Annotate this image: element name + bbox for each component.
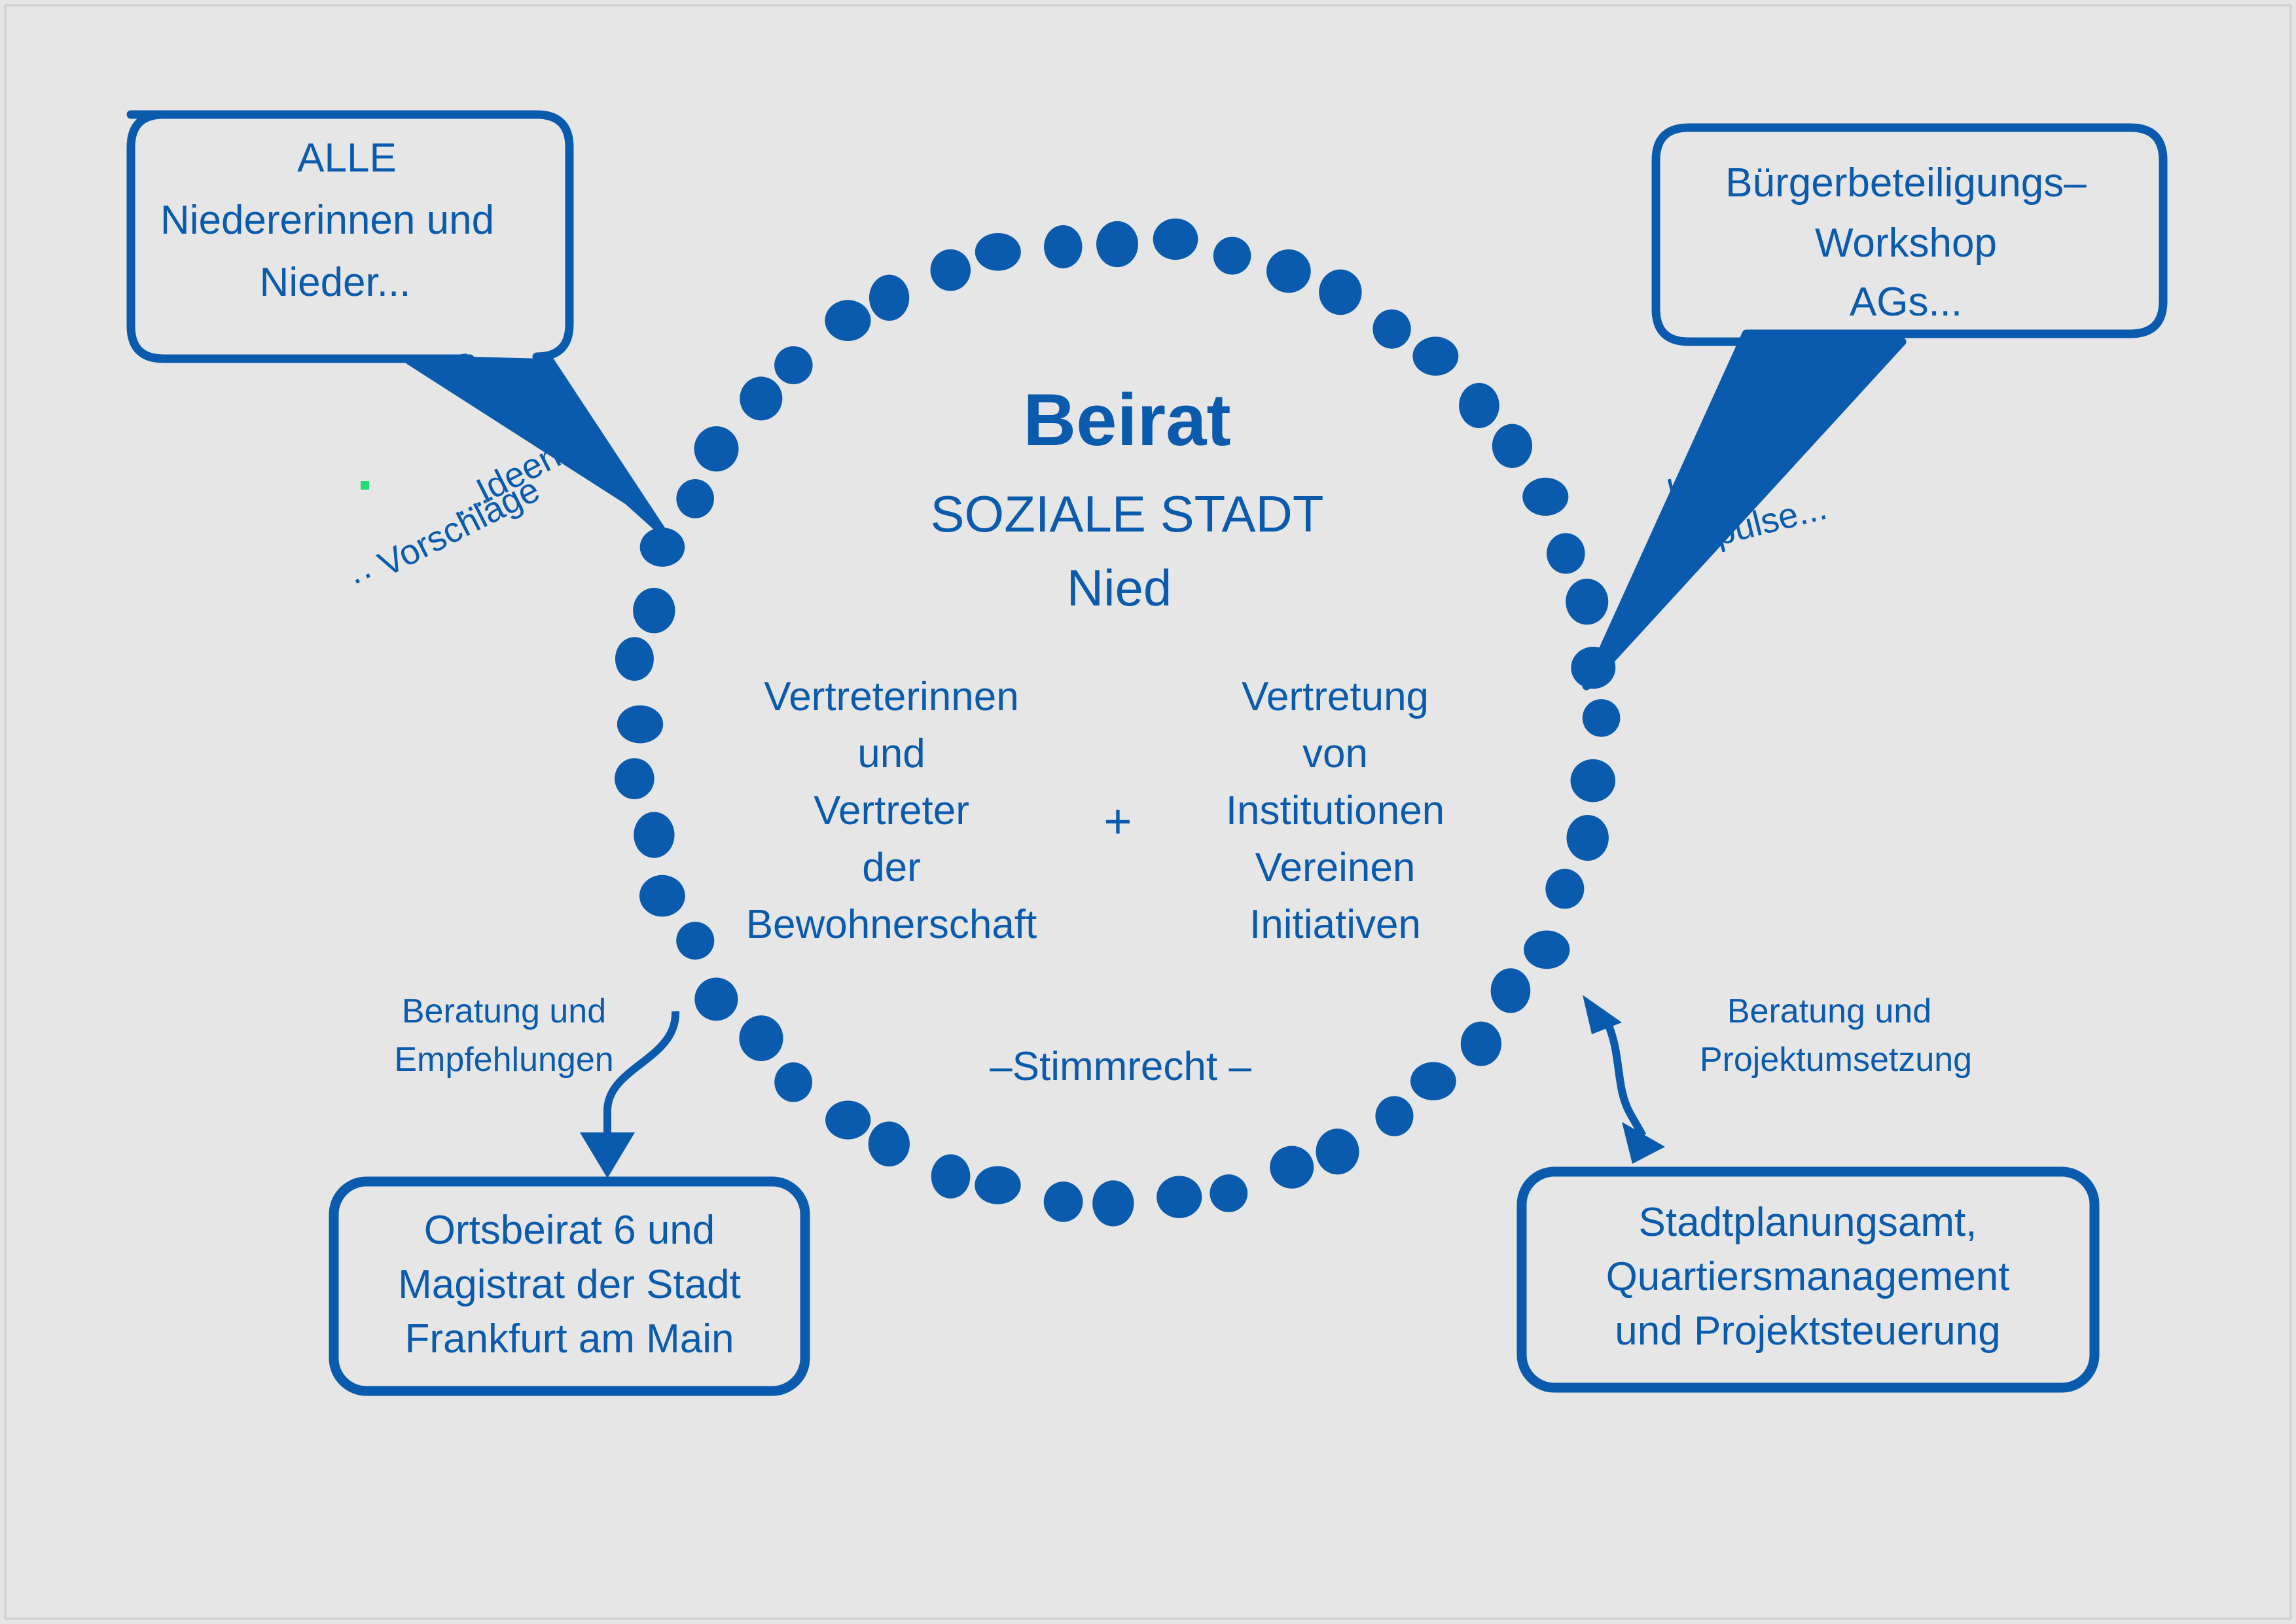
org-diagram-svg: ALLE Niedererinnen und Nieder... Bürgerb… — [0, 0, 2296, 1624]
ring-dot — [1567, 815, 1609, 861]
right-col-line-3: Institutionen — [1226, 788, 1444, 833]
box-bottom-left-line-3: Frankfurt am Main — [404, 1316, 734, 1362]
ring-dot — [1412, 336, 1458, 375]
ring-dot — [1210, 1174, 1247, 1212]
ring-dot — [1092, 1180, 1134, 1226]
ring-dot — [1522, 478, 1568, 516]
ring-dot — [1375, 1096, 1413, 1136]
ring-dot — [676, 479, 714, 518]
center-subtitle-line-2: Nied — [1067, 559, 1172, 617]
ring-dot — [617, 706, 663, 744]
ring-dot — [869, 1121, 910, 1166]
ring-dot — [739, 1015, 783, 1061]
ring-dot — [1410, 1062, 1456, 1100]
ring-dot — [1583, 699, 1621, 737]
box-bottom-left-line-1: Ortsbeirat 6 und — [424, 1208, 715, 1253]
ring-dot — [825, 300, 870, 341]
ring-dot — [676, 922, 714, 960]
ring-dot — [1096, 221, 1138, 267]
ring-dot — [1213, 237, 1251, 275]
ring-dot — [1319, 270, 1361, 316]
right-col-line-5: Initiativen — [1249, 902, 1421, 947]
ring-dot — [1566, 579, 1608, 624]
ring-dot — [869, 275, 909, 321]
diagram-canvas: ALLE Niedererinnen und Nieder... Bürgerb… — [0, 0, 2296, 1624]
center-subtitle-line-1: SOZIALE STADT — [931, 485, 1324, 543]
plus-operator: + — [1103, 794, 1132, 848]
ring-dot — [633, 588, 675, 633]
bubble-top-right-line-3: AGs... — [1850, 280, 1962, 325]
ring-dot — [931, 1154, 971, 1199]
box-bottom-left-line-2: Magistrat der Stadt — [398, 1262, 741, 1307]
ring-dot — [1266, 249, 1311, 293]
ring-dot — [1044, 225, 1082, 268]
ring-dot — [1316, 1128, 1359, 1174]
flow-left-label-line-2: Empfehlungen — [394, 1041, 613, 1079]
flow-right-label-line-2: Projektumsetzung — [1700, 1041, 1972, 1079]
ring-dot — [774, 346, 813, 384]
bubble-top-left-line-1: ALLE — [297, 135, 397, 181]
left-col-line-3: Vertreter — [814, 788, 969, 833]
ring-dot — [740, 376, 782, 420]
ring-dot — [1372, 310, 1410, 349]
ring-dot — [694, 426, 739, 471]
box-bottom-right-line-2: Quartiersmanagement — [1606, 1254, 2010, 1299]
ring-dot — [1044, 1182, 1083, 1222]
ring-dot — [694, 977, 738, 1020]
ring-dot — [615, 637, 654, 681]
ring-dot — [1157, 1176, 1202, 1218]
ring-dot — [1491, 968, 1531, 1013]
left-col-line-4: der — [862, 845, 921, 890]
ring-dot — [825, 1100, 870, 1139]
bubble-top-left-line-3: Nieder... — [260, 260, 411, 305]
ring-dot — [1153, 219, 1198, 260]
right-col-line-4: Vereinen — [1255, 845, 1416, 890]
green-speck-artifact — [361, 481, 369, 490]
ring-dot — [1459, 383, 1499, 428]
bubble-top-right-line-1: Bürgerbeteiligungs– — [1725, 160, 2087, 206]
ring-dot — [975, 233, 1021, 271]
ring-dot — [931, 249, 971, 291]
left-col-line-2: und — [857, 731, 925, 776]
ring-dot — [774, 1062, 812, 1102]
bubble-top-right-line-2: Workshop — [1815, 221, 1997, 266]
ring-dot — [615, 758, 655, 799]
bubble-top-left-line-2: Niedererinnen und — [160, 198, 494, 243]
ring-dot — [1524, 930, 1570, 969]
box-bottom-right-line-3: und Projektsteuerung — [1615, 1308, 2000, 1354]
ring-dot — [1571, 759, 1616, 803]
ring-dot — [639, 875, 685, 917]
ring-dot — [1461, 1022, 1501, 1066]
ring-dot — [1270, 1146, 1314, 1189]
center-title: Beirat — [1023, 379, 1230, 461]
flow-left-label-line-1: Beratung und — [402, 992, 606, 1030]
ring-dot — [1547, 533, 1585, 573]
box-bottom-right-line-1: Stadtplanungsamt, — [1638, 1200, 1977, 1245]
left-col-line-5: Bewohnerschaft — [746, 902, 1037, 947]
ring-dot — [975, 1166, 1020, 1204]
stimmrecht-note: –Stimmrecht – — [990, 1044, 1251, 1089]
right-col-line-2: von — [1302, 731, 1368, 776]
ring-dot — [1545, 869, 1584, 909]
flow-right-label-line-1: Beratung und — [1727, 992, 1931, 1030]
left-col-line-1: Vertreterinnen — [764, 674, 1018, 719]
right-col-line-1: Vertretung — [1242, 674, 1429, 719]
ring-dot — [634, 812, 674, 857]
ring-dot — [1492, 424, 1532, 468]
